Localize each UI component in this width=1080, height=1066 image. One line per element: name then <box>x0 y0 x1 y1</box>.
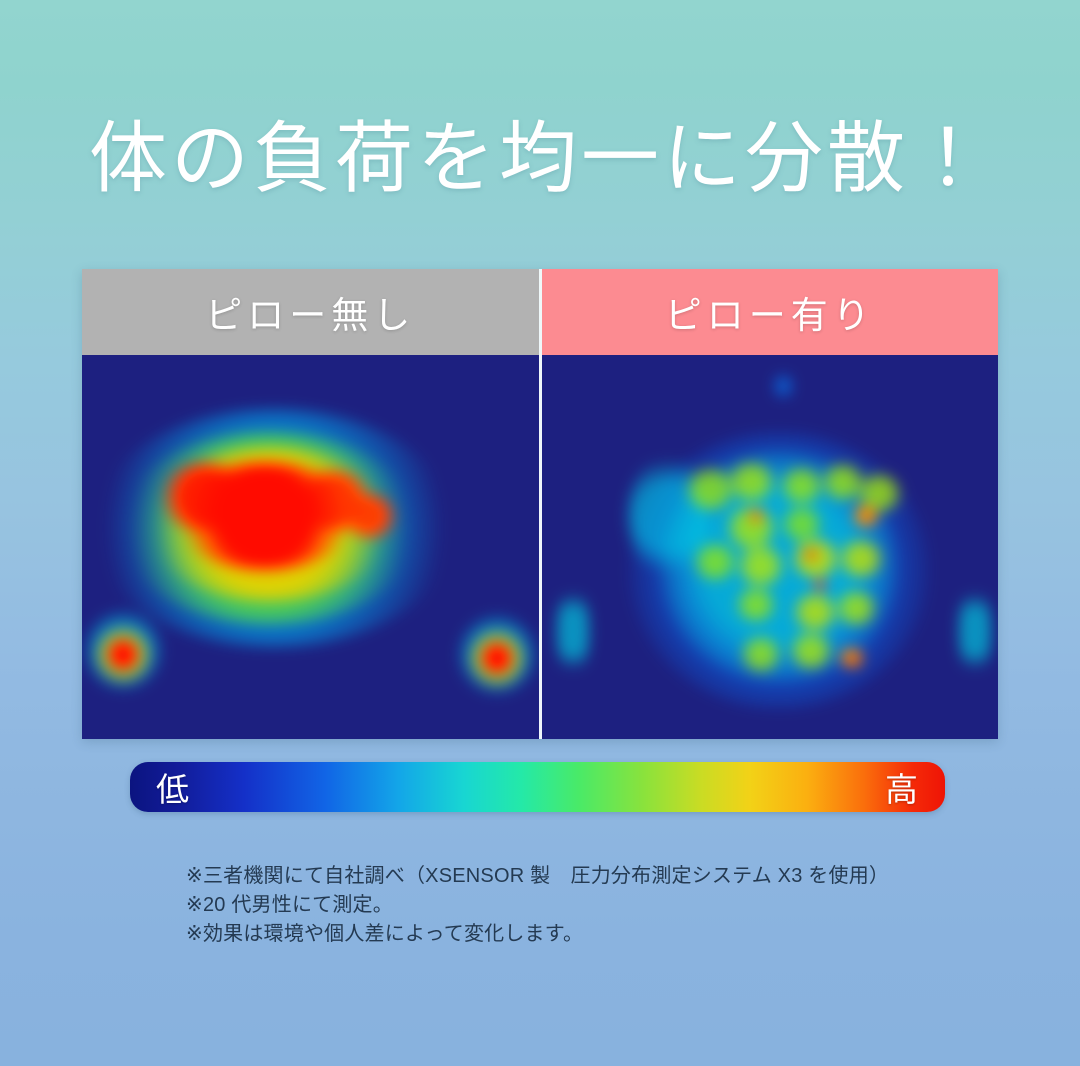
heatmap-hotspot <box>779 467 825 504</box>
heatmap-hotspot <box>481 641 513 676</box>
heatmap-no-pillow <box>82 355 539 739</box>
footnotes: ※三者機関にて自社調べ（XSENSOR 製 圧力分布測定システム X3 を使用）… <box>186 862 1016 949</box>
heatmap-hotspot <box>736 587 777 622</box>
heatmap-hotspot <box>838 539 884 577</box>
heatmap-blobs-no-pillow <box>82 355 539 739</box>
heatmap-blobs-with-pillow <box>542 355 999 739</box>
heatmap-hotspot <box>781 507 822 542</box>
heatmap-hotspot <box>836 591 877 626</box>
heatmap-hotspot <box>749 510 764 522</box>
pressure-colorbar: 低 高 <box>130 762 945 812</box>
poster-root: 体の負荷を均一に分散！ ピロー無し ピロー有り 低 高 ※三者機関にて自社調べ（… <box>0 0 1080 1066</box>
footnote-line: ※20 代男性にて測定。 <box>186 891 1016 920</box>
heatmap-hotspot <box>173 463 356 571</box>
heatmap-hotspot <box>107 637 139 672</box>
heatmap-hotspot <box>740 636 781 673</box>
heatmap-hotspot <box>838 648 865 668</box>
page-title: 体の負荷を均一に分散！ <box>0 112 1080 204</box>
colorbar-low-label: 低 <box>156 763 190 811</box>
heatmap-with-pillow <box>542 355 999 739</box>
heatmap-hotspot <box>789 632 833 669</box>
heatmap-hotspot <box>775 372 791 399</box>
heatmap-hotspot <box>693 544 737 581</box>
heatmap-hotspot <box>959 585 991 677</box>
panel-header-with-pillow: ピロー有り <box>542 269 999 355</box>
colorbar-high-label: 高 <box>885 763 919 811</box>
panel-header-no-pillow: ピロー無し <box>82 269 539 355</box>
comparison-container: ピロー無し ピロー有り <box>82 269 998 739</box>
heatmap-hotspot <box>804 549 817 560</box>
heatmap-hotspot <box>793 594 839 631</box>
panel-no-pillow: ピロー無し <box>82 269 539 739</box>
footnote-line: ※効果は環境や個人差によって変化します。 <box>186 920 1016 949</box>
footnote-line: ※三者機関にて自社調べ（XSENSOR 製 圧力分布測定システム X3 を使用） <box>186 862 1016 891</box>
heatmap-hotspot <box>814 580 827 591</box>
heatmap-hotspot <box>557 585 589 677</box>
panel-with-pillow: ピロー有り <box>539 269 999 739</box>
